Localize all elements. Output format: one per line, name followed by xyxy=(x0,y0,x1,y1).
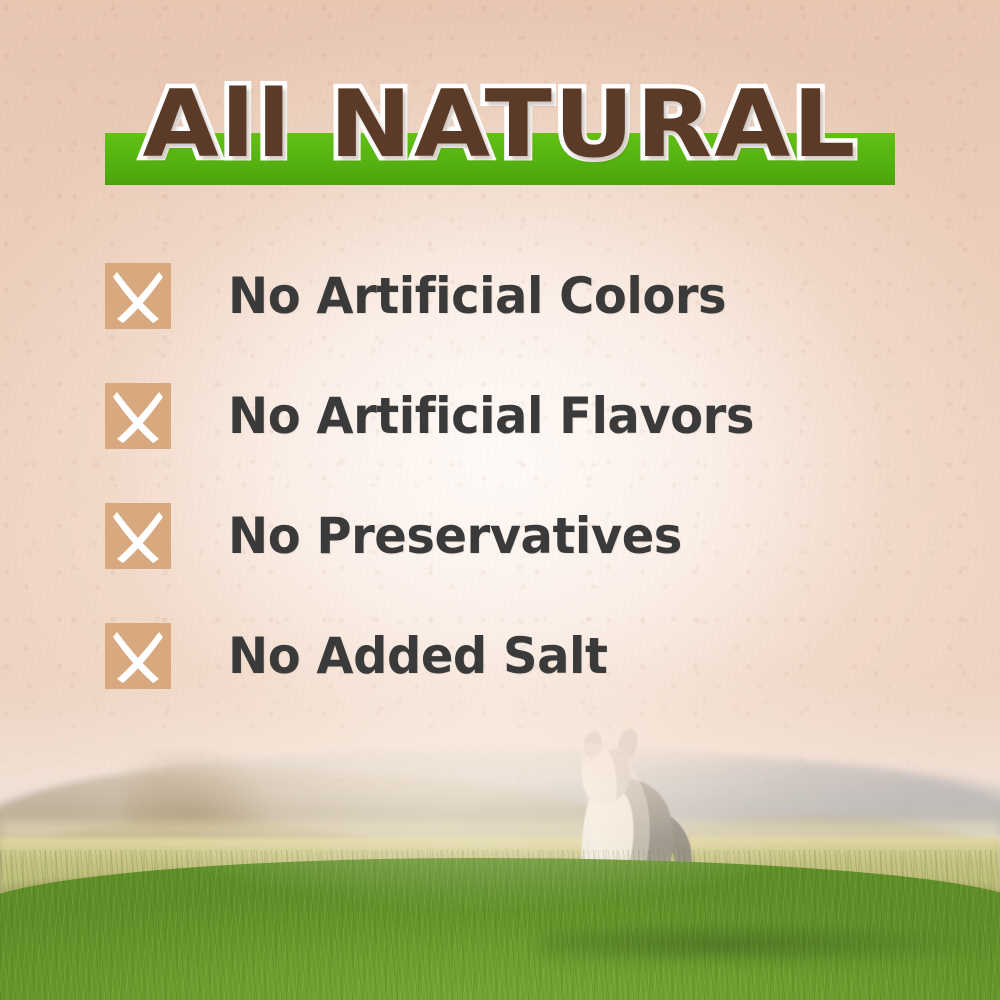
x-mark-icon xyxy=(105,263,171,329)
page-title: All NATURAL xyxy=(0,74,1000,174)
x-mark-icon xyxy=(105,503,171,569)
list-item-label: No Artificial Colors xyxy=(228,263,726,329)
list-item: No Artificial Colors xyxy=(105,263,925,329)
dog-shadow xyxy=(540,922,1000,966)
all-natural-infographic: All NATURAL No Artificial Colors No Arti… xyxy=(0,0,1000,1000)
claims-list: No Artificial Colors No Artificial Flavo… xyxy=(105,263,925,743)
list-item-label: No Artificial Flavors xyxy=(228,383,754,449)
list-item: No Preservatives xyxy=(105,503,925,569)
list-item: No Artificial Flavors xyxy=(105,383,925,449)
list-item: No Added Salt xyxy=(105,623,925,689)
headline-banner: All NATURAL xyxy=(0,74,1000,194)
list-item-label: No Preservatives xyxy=(228,503,682,569)
list-item-label: No Added Salt xyxy=(228,623,607,689)
x-mark-icon xyxy=(105,623,171,689)
x-mark-icon xyxy=(105,383,171,449)
